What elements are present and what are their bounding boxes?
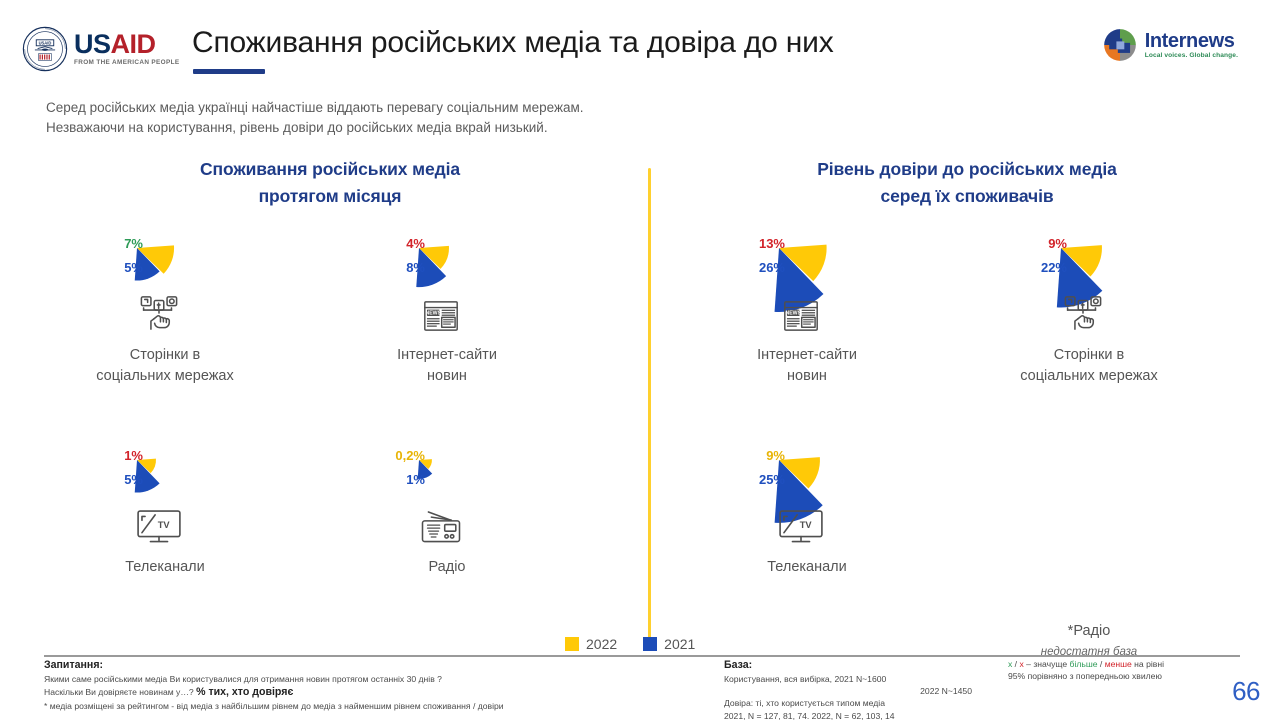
tv-icon: TV: [135, 507, 183, 546]
panel-title-line-2: протягом місяця: [30, 183, 630, 210]
svg-text:NEWS: NEWS: [785, 311, 801, 317]
caption-line-1: Сторінки в: [130, 347, 200, 363]
media-stat-item: 1% 5% TV Телеканали: [30, 446, 300, 578]
media-stat-item: 0,2% 1% Радіо: [312, 446, 582, 578]
sig-mid: – значуще: [1024, 659, 1070, 669]
stat-labels: 13% 26%: [707, 234, 907, 294]
stat-caption: Інтернет-сайти новин: [312, 345, 582, 387]
question-line-2: Наскільки Ви довіряєте новинам у…? % тих…: [44, 685, 704, 700]
caption-line-2: соціальних мережах: [1020, 368, 1157, 384]
media-stat-item: 9% 22%: [954, 234, 1224, 387]
footer-divider-rule: [44, 655, 1240, 657]
svg-text:TV: TV: [158, 520, 171, 530]
media-type-icon-slot: [418, 509, 464, 551]
value-2022: 9%: [989, 236, 1067, 251]
footnote-significance: x / x – значуще більше / менше на рівні …: [1008, 658, 1208, 683]
slide-subtitle: Серед російських медіа українці найчасті…: [46, 98, 806, 139]
panel-trust-items: 13% 26% NEWS Інтернет-сайти: [672, 234, 1262, 654]
value-2021: 8%: [347, 260, 425, 275]
panel-consumption-items: 7% 5%: [30, 234, 630, 654]
value-2022: 1%: [65, 448, 143, 463]
stat-caption: Сторінки в соціальних мережах: [954, 345, 1224, 387]
newspaper-icon: NEWS: [422, 298, 460, 334]
base-heading: База:: [724, 659, 752, 671]
legend-entry: 2021: [643, 636, 695, 652]
stat-labels: 4% 8%: [347, 234, 547, 294]
radio-icon: [418, 509, 464, 546]
caption-line-2: новин: [787, 368, 827, 384]
social-media-icon: [1061, 292, 1105, 334]
stat-labels: 0,2% 1%: [347, 446, 547, 506]
question-line-2-b: % тих, хто довіряє: [196, 686, 293, 698]
footnote-question: Запитання: Якими саме російськими медіа …: [44, 658, 704, 712]
page-title: Споживання російських медіа та довіра до…: [192, 26, 1072, 60]
panel-title-line-1: Споживання російських медіа: [30, 156, 630, 183]
base-line-4: 2021, N = 127, 81, 74. 2022, N = 62, 103…: [724, 710, 1004, 722]
media-stat-item: *Радіо недостатня база: [954, 446, 1224, 661]
subtitle-line-2: Незважаючи на користування, рівень довір…: [46, 118, 806, 138]
stat-visual: 4% 8% NEWS: [312, 234, 582, 339]
value-2022: 13%: [707, 236, 785, 251]
value-2021: 5%: [65, 260, 143, 275]
value-2021: 1%: [347, 472, 425, 487]
stat-visual: 7% 5%: [30, 234, 300, 339]
internews-slogan: Local voices. Global change.: [1145, 53, 1238, 60]
caption-line-1: Телеканали: [767, 559, 847, 575]
stat-caption: Сторінки в соціальних мережах: [30, 345, 300, 387]
media-type-icon-slot: NEWS: [782, 298, 820, 339]
subtitle-line-1: Серед російських медіа українці найчасті…: [46, 98, 806, 118]
media-type-icon-slot: TV: [135, 507, 183, 551]
sig-more-label: більше: [1070, 659, 1098, 669]
legend-label: 2022: [586, 636, 617, 652]
slide-header: USAID USAID FROM THE AMERICAN PEOPLE Спо…: [0, 0, 1280, 92]
media-stat-item: 4% 8% NEWS Інтернет-сайти: [312, 234, 582, 387]
sig-less-label: менше: [1105, 659, 1132, 669]
caption-line-1: Інтернет-сайти: [397, 347, 497, 363]
base-line-3: Довіра: ті, хто користується типом медіа: [724, 697, 1004, 709]
value-2022: 7%: [65, 236, 143, 251]
panel-title-line-1: Рівень довіри до російських медіа: [672, 156, 1262, 183]
usaid-wordmark-aid: AID: [111, 29, 156, 59]
caption-line-1: Сторінки в: [1054, 347, 1124, 363]
question-line-1: Якими саме російськими медіа Ви користув…: [44, 673, 704, 685]
usaid-logo: USAID USAID FROM THE AMERICAN PEOPLE: [22, 26, 179, 72]
caption-line-1: Радіо: [428, 559, 465, 575]
usaid-wordmark: USAID FROM THE AMERICAN PEOPLE: [74, 31, 179, 66]
svg-text:NEWS: NEWS: [425, 311, 441, 317]
stat-caption: Інтернет-сайти новин: [672, 345, 942, 387]
page-number: 66: [1232, 676, 1260, 707]
sig-tail: на рівні: [1132, 659, 1164, 669]
internews-logo: Internews Local voices. Global change.: [1102, 27, 1238, 63]
stat-visual: 0,2% 1%: [312, 446, 582, 551]
value-2021: 26%: [707, 260, 785, 275]
media-type-icon-slot: TV: [777, 507, 825, 551]
value-2021: 5%: [65, 472, 143, 487]
stat-visual: 9% 22%: [954, 234, 1224, 339]
question-line-2-a: Наскільки Ви довіряєте новинам у…?: [44, 687, 196, 697]
stat-labels: 9% 25%: [707, 446, 907, 506]
stat-visual: 9% 25% TV: [672, 446, 942, 551]
value-2021: 22%: [989, 260, 1067, 275]
legend-swatch: [565, 637, 579, 651]
stat-labels: 1% 5%: [65, 446, 265, 506]
value-2022: 4%: [347, 236, 425, 251]
base-line-2: 2022 N~1450: [724, 685, 1004, 697]
media-type-icon-slot: [1061, 292, 1105, 339]
legend-entry: 2022: [565, 636, 617, 652]
caption-line-2: новин: [427, 368, 467, 384]
sig-more-separator: /: [1098, 659, 1105, 669]
media-type-icon-slot: [137, 292, 181, 339]
caption-line-1: *Радіо: [1068, 623, 1111, 639]
newspaper-icon: NEWS: [782, 298, 820, 334]
legend-label: 2021: [664, 636, 695, 652]
panel-trust-title: Рівень довіри до російських медіа серед …: [672, 150, 1262, 210]
value-2022: 0,2%: [347, 448, 425, 463]
legend-swatch: [643, 637, 657, 651]
panel-divider: [648, 168, 651, 640]
value-2021: 25%: [707, 472, 785, 487]
stat-labels: 9% 22%: [989, 234, 1189, 294]
panel-title-line-2: серед їх споживачів: [672, 183, 1262, 210]
svg-text:TV: TV: [800, 520, 813, 530]
stat-visual: 1% 5% TV: [30, 446, 300, 551]
social-media-icon: [137, 292, 181, 334]
internews-name: Internews: [1145, 31, 1238, 51]
panel-consumption-title: Споживання російських медіа протягом міс…: [30, 150, 630, 210]
stat-visual: [954, 446, 1224, 551]
caption-line-1: Телеканали: [125, 559, 205, 575]
value-2022: 9%: [707, 448, 785, 463]
media-stat-item: 7% 5%: [30, 234, 300, 387]
media-type-icon-slot: NEWS: [422, 298, 460, 339]
significance-line-1: x / x – значуще більше / менше на рівні: [1008, 658, 1208, 670]
internews-wordmark: Internews Local voices. Global change.: [1145, 31, 1238, 60]
svg-text:USAID: USAID: [39, 41, 52, 46]
internews-mark-icon: [1102, 27, 1138, 63]
media-stat-item: 13% 26% NEWS Інтернет-сайти: [672, 234, 942, 387]
stat-visual: 13% 26% NEWS: [672, 234, 942, 339]
footnote-base: База: Користування, вся вибірка, 2021 N~…: [724, 658, 1004, 722]
caption-line-1: Інтернет-сайти: [757, 347, 857, 363]
media-stat-item: 9% 25% TV Телеканали: [672, 446, 942, 578]
panel-consumption: Споживання російських медіа протягом міс…: [30, 150, 630, 630]
usaid-wordmark-us: US: [74, 29, 111, 59]
stat-labels: 7% 5%: [65, 234, 265, 294]
caption-line-2: соціальних мережах: [96, 368, 233, 384]
significance-line-2: 95% порівняно з попередньою хвилею: [1008, 670, 1208, 682]
question-line-3: * медіа розміщені за рейтингом - від мед…: [44, 700, 704, 712]
slide-root: USAID USAID FROM THE AMERICAN PEOPLE Спо…: [0, 0, 1280, 720]
usaid-seal-icon: USAID: [22, 26, 68, 72]
title-underline-rule: [193, 69, 265, 74]
usaid-tagline: FROM THE AMERICAN PEOPLE: [74, 60, 179, 66]
question-heading: Запитання:: [44, 659, 103, 671]
base-line-1: Користування, вся вибірка, 2021 N~1600: [724, 673, 1004, 685]
tv-icon: TV: [777, 507, 825, 546]
panel-trust: Рівень довіри до російських медіа серед …: [672, 150, 1262, 630]
chart-legend: 2022 2021: [565, 636, 695, 652]
